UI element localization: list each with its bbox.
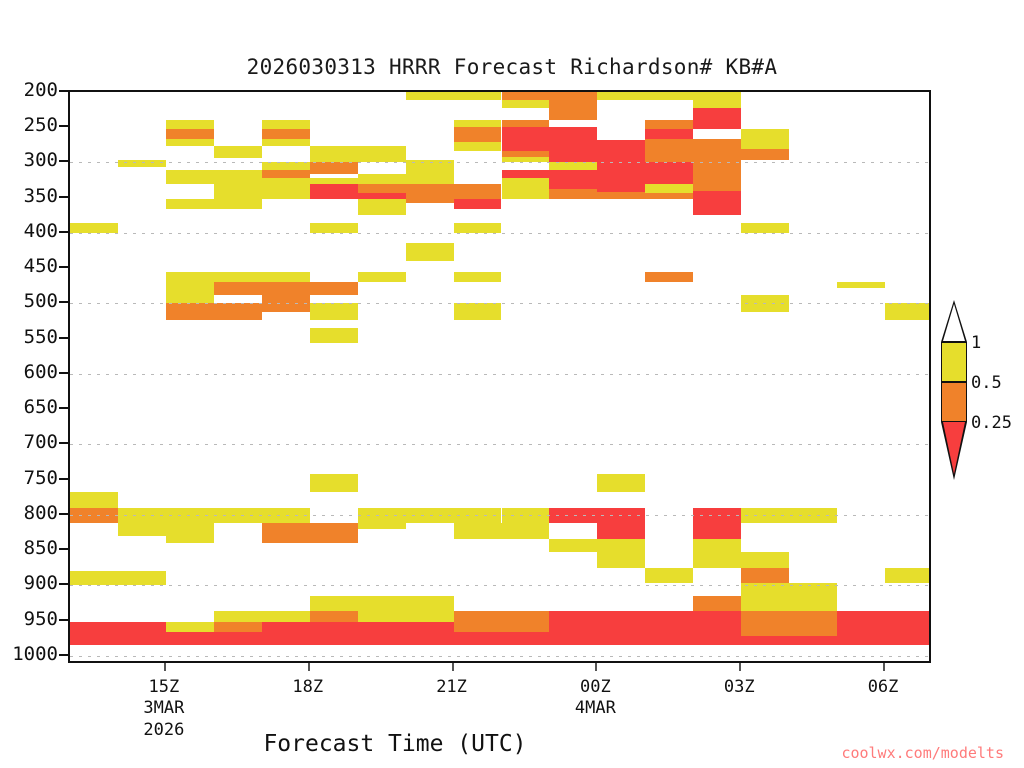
color-legend[interactable]: 10.50.25 xyxy=(941,300,967,482)
y-axis-tick-label: 950 xyxy=(0,610,58,629)
heatmap-cell xyxy=(214,622,262,632)
heatmap-cell xyxy=(118,523,166,536)
x-axis-tick-mark xyxy=(308,663,310,671)
y-axis-tick-mark xyxy=(59,125,68,127)
heatmap-cell xyxy=(645,611,741,622)
heatmap-cell xyxy=(693,508,741,524)
y-axis-tick-label: 200 xyxy=(0,81,58,100)
legend-tick-label: 1 xyxy=(971,333,981,353)
heatmap-cell xyxy=(454,303,502,319)
x-axis-tick-mark xyxy=(739,663,741,671)
heatmap-cell xyxy=(885,303,931,319)
heatmap-cell xyxy=(262,162,310,169)
chart-title: 2026030313 HRRR Forecast Richardson# KB#… xyxy=(0,55,1024,79)
x-axis-tick-label: 18Z xyxy=(248,677,368,698)
heatmap-cell xyxy=(549,611,645,622)
heatmap-cell xyxy=(310,474,358,492)
x-axis-tick-mark xyxy=(164,663,166,671)
heatmap-cell xyxy=(645,272,693,283)
heatmap-cell xyxy=(214,611,310,622)
heatmap-cell xyxy=(358,199,406,215)
terrain-notch xyxy=(70,661,597,663)
heatmap-cell xyxy=(693,92,741,108)
heatmap-cell xyxy=(741,622,837,636)
heatmap-cell xyxy=(597,140,645,192)
heatmap-cell xyxy=(597,552,645,569)
heatmap-cell xyxy=(741,611,837,622)
heatmap-cell xyxy=(166,129,214,139)
y-axis-tick-label: 1000 xyxy=(0,645,58,664)
heatmap-cell xyxy=(310,328,358,343)
heatmap-cell xyxy=(693,108,741,129)
heatmap-cell xyxy=(597,92,693,100)
heatmap-cell xyxy=(693,552,789,569)
y-axis-tick-mark xyxy=(59,583,68,585)
heatmap-cell xyxy=(454,142,502,151)
heatmap-cell xyxy=(645,193,693,199)
heatmap-cell xyxy=(214,146,262,157)
y-axis-tick-label: 450 xyxy=(0,257,58,276)
heatmap-cell xyxy=(837,611,931,622)
heatmap-cell xyxy=(549,189,597,200)
heatmap-cell xyxy=(406,199,454,203)
y-axis-tick-label: 650 xyxy=(0,398,58,417)
y-axis-tick-mark xyxy=(59,196,68,198)
heatmap-cell xyxy=(597,192,645,199)
y-axis-tick-label: 900 xyxy=(0,574,58,593)
heatmap-cell xyxy=(70,223,118,233)
y-axis-tick-mark xyxy=(59,654,68,656)
heatmap-cell xyxy=(549,100,597,120)
heatmap-cell xyxy=(502,100,550,108)
heatmap-cell xyxy=(358,523,406,529)
heatmap-cell xyxy=(645,120,693,128)
y-axis-tick-label: 600 xyxy=(0,363,58,382)
heatmap-cell xyxy=(310,184,358,194)
heatmap-cell xyxy=(693,523,741,539)
heatmap-cell xyxy=(645,129,693,139)
chart-canvas: 2026030313 HRRR Forecast Richardson# KB#… xyxy=(0,0,1024,768)
y-axis-tick-label: 700 xyxy=(0,433,58,452)
heatmap-cell xyxy=(358,611,454,622)
heatmap-cell xyxy=(166,523,214,543)
x-axis-tick-label: 06Z xyxy=(823,677,943,698)
heatmap-cell xyxy=(741,568,789,582)
heatmap-cell xyxy=(741,223,789,233)
heatmap-cell xyxy=(741,583,837,611)
y-axis-tick-mark xyxy=(59,407,68,409)
heatmap-cell xyxy=(693,191,741,214)
heatmap-cell xyxy=(214,272,262,283)
plot-area-wrapper: 2002503003504004505005506006507007508008… xyxy=(68,90,931,663)
heatmap-cell xyxy=(262,282,358,295)
heatmap-cell xyxy=(358,174,454,184)
heatmap-cell xyxy=(70,492,118,508)
heatmap-cell xyxy=(70,636,931,645)
heatmap-cell xyxy=(166,120,214,128)
heatmap-cell xyxy=(502,170,598,178)
heatmap-cell xyxy=(741,129,789,149)
x-axis-tick-label: 00Z4MAR xyxy=(535,677,655,720)
heatmap-cell xyxy=(358,596,454,611)
x-axis-tick-mark xyxy=(452,663,454,671)
heatmap-cell xyxy=(454,622,550,632)
heatmap-cell xyxy=(166,622,214,632)
heatmap-cell xyxy=(454,611,550,622)
heatmap-cell xyxy=(310,223,358,233)
y-axis-tick-mark xyxy=(59,160,68,162)
heatmap-cell xyxy=(262,272,310,283)
heatmap-cell xyxy=(549,539,645,552)
heatmap-cell xyxy=(262,295,310,312)
heatmap-cell xyxy=(549,622,645,636)
heatmap-cell xyxy=(645,162,693,183)
y-axis-tick-label: 850 xyxy=(0,539,58,558)
heatmap-cell xyxy=(406,92,454,100)
y-axis-tick-mark xyxy=(59,301,68,303)
legend-segment[interactable] xyxy=(941,342,967,382)
y-axis-tick-mark xyxy=(59,548,68,550)
heatmap-cell xyxy=(549,162,597,169)
legend-segment[interactable] xyxy=(941,382,967,422)
legend-upper-arrow-fill xyxy=(943,304,965,341)
heatmap-cells xyxy=(70,92,929,661)
heatmap-cell xyxy=(406,184,502,200)
heatmap-cell xyxy=(454,127,502,143)
y-axis-tick-mark xyxy=(59,513,68,515)
heatmap-cell xyxy=(358,184,406,194)
heatmap-cell xyxy=(118,508,262,524)
heatmap-cell xyxy=(310,162,358,174)
heatmap-cell xyxy=(166,282,214,303)
heatmap-cell xyxy=(262,139,310,147)
heatmap-cell xyxy=(741,149,789,160)
heatmap-cell xyxy=(262,622,454,636)
heatmap-cell xyxy=(454,199,502,209)
y-axis-tick-mark xyxy=(59,90,68,92)
heatmap-cell xyxy=(406,243,454,261)
heatmap-cell xyxy=(262,523,358,543)
heatmap-cell xyxy=(597,508,645,524)
x-axis-tick-mark xyxy=(595,663,597,671)
heatmap-cell xyxy=(70,622,166,636)
heatmap-cell xyxy=(885,568,931,582)
heatmap-cell xyxy=(310,303,358,319)
heatmap-cell xyxy=(502,157,550,163)
y-axis-tick-label: 250 xyxy=(0,116,58,135)
heatmap-cell xyxy=(454,272,502,283)
heatmap-cell xyxy=(597,474,645,492)
heatmap-cell xyxy=(741,295,789,312)
heatmap-cell xyxy=(502,178,550,199)
legend-tick-label: 0.5 xyxy=(971,373,1002,393)
credit-text: coolwx.com/modelts xyxy=(841,744,1004,762)
heatmap-cell xyxy=(597,523,645,539)
x-axis-tick-label: 21Z xyxy=(392,677,512,698)
y-axis-tick-label: 350 xyxy=(0,187,58,206)
heatmap-cell xyxy=(214,282,262,295)
heatmap-cell xyxy=(454,92,502,100)
y-axis-tick-label: 750 xyxy=(0,469,58,488)
heatmap-cell xyxy=(310,611,358,622)
y-axis-tick-label: 300 xyxy=(0,151,58,170)
heatmap-cell xyxy=(310,146,406,162)
y-axis-tick-mark xyxy=(59,442,68,444)
legend-lower-arrow-fill xyxy=(943,422,965,474)
heatmap-cell xyxy=(118,160,166,168)
plot-frame xyxy=(68,90,931,663)
heatmap-cell xyxy=(693,596,741,611)
heatmap-cell xyxy=(645,622,741,636)
heatmap-cell xyxy=(645,184,693,194)
heatmap-cell xyxy=(358,508,454,524)
heatmap-cell xyxy=(70,645,931,656)
y-axis-tick-mark xyxy=(59,372,68,374)
heatmap-cell xyxy=(454,508,502,524)
y-axis-tick-mark xyxy=(59,337,68,339)
y-axis-tick-label: 800 xyxy=(0,504,58,523)
heatmap-cell xyxy=(262,120,310,128)
y-axis-tick-label: 550 xyxy=(0,328,58,347)
y-axis-tick-mark xyxy=(59,619,68,621)
x-axis-label: Forecast Time (UTC) xyxy=(0,731,790,757)
heatmap-cell xyxy=(166,272,214,283)
heatmap-cell xyxy=(454,523,550,539)
x-axis-tick-mark xyxy=(883,663,885,671)
heatmap-cell xyxy=(502,92,598,100)
heatmap-cell xyxy=(645,568,693,582)
heatmap-cell xyxy=(406,160,454,174)
y-axis-tick-label: 500 xyxy=(0,292,58,311)
heatmap-cell xyxy=(693,539,741,552)
heatmap-cell xyxy=(262,129,310,139)
y-axis-tick-mark xyxy=(59,231,68,233)
y-axis-tick-mark xyxy=(59,266,68,268)
heatmap-cell xyxy=(166,139,214,147)
heatmap-cell xyxy=(502,508,550,524)
heatmap-cell xyxy=(693,162,741,191)
heatmap-cell xyxy=(549,178,597,189)
y-axis-tick-mark xyxy=(59,478,68,480)
heatmap-cell xyxy=(358,272,406,283)
heatmap-cell xyxy=(70,571,166,585)
x-axis-tick-label: 03Z xyxy=(679,677,799,698)
heatmap-cell xyxy=(454,223,502,233)
heatmap-cell xyxy=(166,199,262,209)
heatmap-cell xyxy=(310,596,358,611)
heatmap-cell xyxy=(837,282,885,288)
y-axis-tick-label: 400 xyxy=(0,222,58,241)
legend-tick-label: 0.25 xyxy=(971,413,1012,433)
heatmap-cell xyxy=(262,508,310,524)
terrain-band xyxy=(70,661,929,663)
heatmap-cell xyxy=(645,139,741,163)
heatmap-cell xyxy=(741,508,837,524)
heatmap-cell xyxy=(166,303,262,319)
heatmap-cell xyxy=(837,622,931,636)
heatmap-cell xyxy=(549,508,597,524)
